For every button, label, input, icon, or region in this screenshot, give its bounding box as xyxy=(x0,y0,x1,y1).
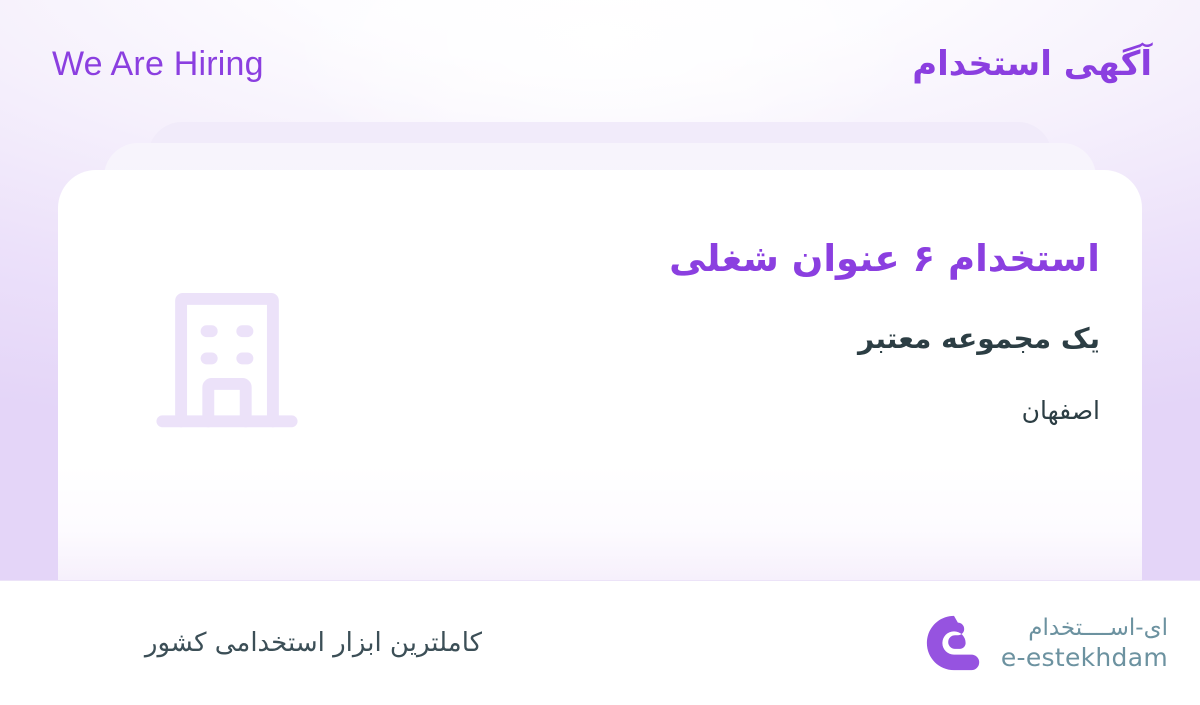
brand-logo[interactable]: ای-اســــتخدام e-estekhdam xyxy=(923,612,1168,674)
brand-name-english: e-estekhdam xyxy=(1001,643,1168,673)
building-icon xyxy=(142,270,312,440)
job-details: استخدام ۶ عنوان شغلی یک مجموعه معتبر اصف… xyxy=(380,230,1100,430)
footer: کاملترین ابزار استخدامی کشور ای-اســــتخ… xyxy=(0,580,1200,705)
brand-wordmark: ای-اســــتخدام e-estekhdam xyxy=(1001,613,1168,673)
footer-tagline: کاملترین ابزار استخدامی کشور xyxy=(145,623,482,663)
hiring-poster: We Are Hiring آگهی استخدام xyxy=(0,0,1200,705)
hero-section: We Are Hiring آگهی استخدام xyxy=(0,0,1200,580)
hero-title-persian: آگهی استخدام xyxy=(912,40,1152,88)
job-listing-card[interactable]: استخدام ۶ عنوان شغلی یک مجموعه معتبر اصف… xyxy=(58,170,1142,580)
company-name: یک مجموعه معتبر xyxy=(380,318,1100,360)
job-title[interactable]: استخدام ۶ عنوان شغلی xyxy=(380,230,1100,288)
e-logo-icon xyxy=(923,612,985,674)
job-location: اصفهان xyxy=(380,392,1100,430)
hero-title-english: We Are Hiring xyxy=(52,42,264,86)
brand-name-persian: ای-اســــتخدام xyxy=(1028,613,1168,643)
